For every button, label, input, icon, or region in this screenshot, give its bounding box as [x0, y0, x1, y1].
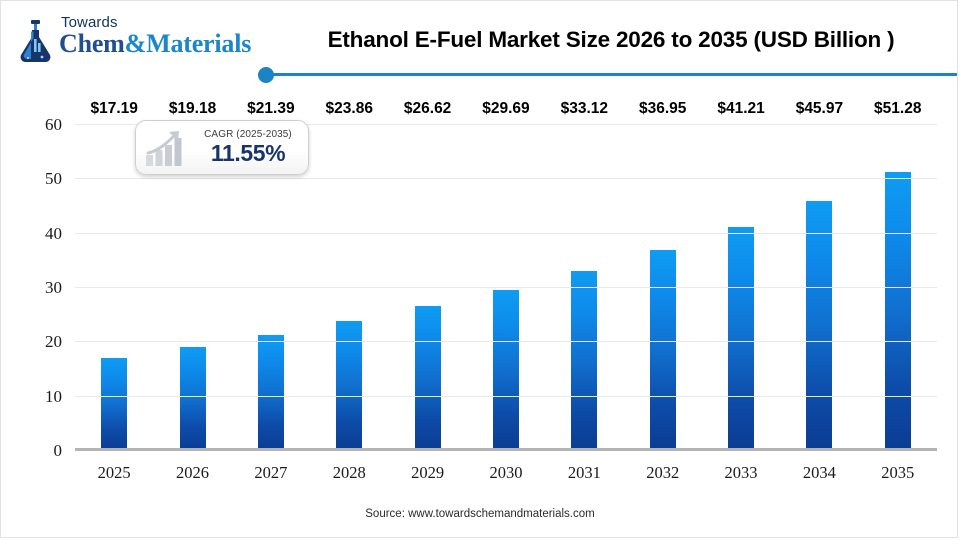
cagr-badge: CAGR (2025-2035) 11.55%: [135, 120, 309, 175]
bar-group: $51.282035: [859, 125, 937, 451]
x-axis-tick-label: 2025: [98, 463, 131, 483]
bar-value-label: $19.18: [169, 100, 216, 118]
bar-value-label: $41.21: [717, 100, 764, 118]
y-axis-tick-label: 30: [45, 278, 62, 298]
gridline: [75, 178, 937, 179]
bar-group: $23.862028: [310, 125, 388, 451]
bar-value-label: $33.12: [561, 100, 608, 118]
brand-wordmark: Towards Chem&Materials: [59, 15, 251, 57]
bar-group: $41.212033: [702, 125, 780, 451]
brand-word-chem: Chem: [59, 29, 125, 58]
brand-logo: Towards Chem&Materials: [15, 15, 260, 67]
x-axis-tick-label: 2030: [489, 463, 522, 483]
cagr-value: 11.55%: [196, 142, 300, 165]
header-divider: [269, 73, 958, 76]
gridline: [75, 341, 937, 342]
bar[interactable]: $19.18: [180, 347, 206, 451]
x-axis-tick-label: 2035: [881, 463, 914, 483]
bar[interactable]: $26.62: [415, 306, 441, 451]
bar-value-label: $45.97: [796, 100, 843, 118]
x-axis-tick-label: 2026: [176, 463, 209, 483]
bar-value-label: $29.69: [482, 100, 529, 118]
y-axis-tick-label: 60: [45, 115, 62, 135]
bar-group: $33.122031: [545, 125, 623, 451]
bar[interactable]: $17.19: [101, 358, 127, 451]
bar-value-label: $26.62: [404, 100, 451, 118]
x-axis-tick-label: 2028: [333, 463, 366, 483]
bar-value-label: $21.39: [247, 100, 294, 118]
x-axis-tick-label: 2029: [411, 463, 444, 483]
bar-group: $36.952032: [624, 125, 702, 451]
gridline: [75, 287, 937, 288]
bar[interactable]: $21.39: [258, 335, 284, 451]
y-axis-tick-label: 0: [54, 441, 63, 461]
brand-line-towards: Towards: [61, 15, 251, 30]
x-axis-tick-label: 2032: [646, 463, 679, 483]
bar[interactable]: $45.97: [806, 201, 832, 451]
bar-value-label: $36.95: [639, 100, 686, 118]
gridline: [75, 233, 937, 234]
chart-page: Towards Chem&Materials Ethanol E-Fuel Ma…: [0, 0, 958, 538]
brand-line-chem-materials: Chem&Materials: [59, 31, 251, 57]
page-title: Ethanol E-Fuel Market Size 2026 to 2035 …: [281, 27, 941, 53]
bar-value-label: $51.28: [874, 100, 921, 118]
bar-group: $29.692030: [467, 125, 545, 451]
bar[interactable]: $51.28: [885, 172, 911, 451]
header-divider-dot: [258, 67, 274, 83]
bar-group: $45.972034: [780, 125, 858, 451]
bar[interactable]: $33.12: [571, 271, 597, 451]
y-axis-tick-label: 40: [45, 224, 62, 244]
x-axis-tick-label: 2034: [803, 463, 836, 483]
y-axis-tick-label: 20: [45, 332, 62, 352]
x-axis-tick-label: 2031: [568, 463, 601, 483]
cagr-text-block: CAGR (2025-2035) 11.55%: [196, 130, 308, 165]
brand-word-materials: Materials: [146, 29, 251, 58]
chart-header: Towards Chem&Materials Ethanol E-Fuel Ma…: [1, 1, 958, 81]
axis-baseline: [75, 448, 937, 451]
y-axis-tick-label: 10: [45, 387, 62, 407]
gridline: [75, 396, 937, 397]
y-axis-tick-label: 50: [45, 169, 62, 189]
source-label: Source: www.towardschemandmaterials.com: [1, 508, 958, 520]
cagr-period-label: CAGR (2025-2035): [196, 130, 300, 140]
bar-value-label: $17.19: [90, 100, 137, 118]
bar[interactable]: $41.21: [728, 227, 754, 451]
bar-value-label: $23.86: [326, 100, 373, 118]
brand-ampersand: &: [125, 29, 146, 58]
bar[interactable]: $29.69: [493, 290, 519, 451]
x-axis-tick-label: 2033: [725, 463, 758, 483]
growth-bar-chart-icon: [140, 127, 196, 169]
flask-icon: [15, 19, 55, 63]
x-axis-tick-label: 2027: [254, 463, 287, 483]
bar[interactable]: $36.95: [650, 250, 676, 451]
bar-group: $26.622029: [388, 125, 466, 451]
